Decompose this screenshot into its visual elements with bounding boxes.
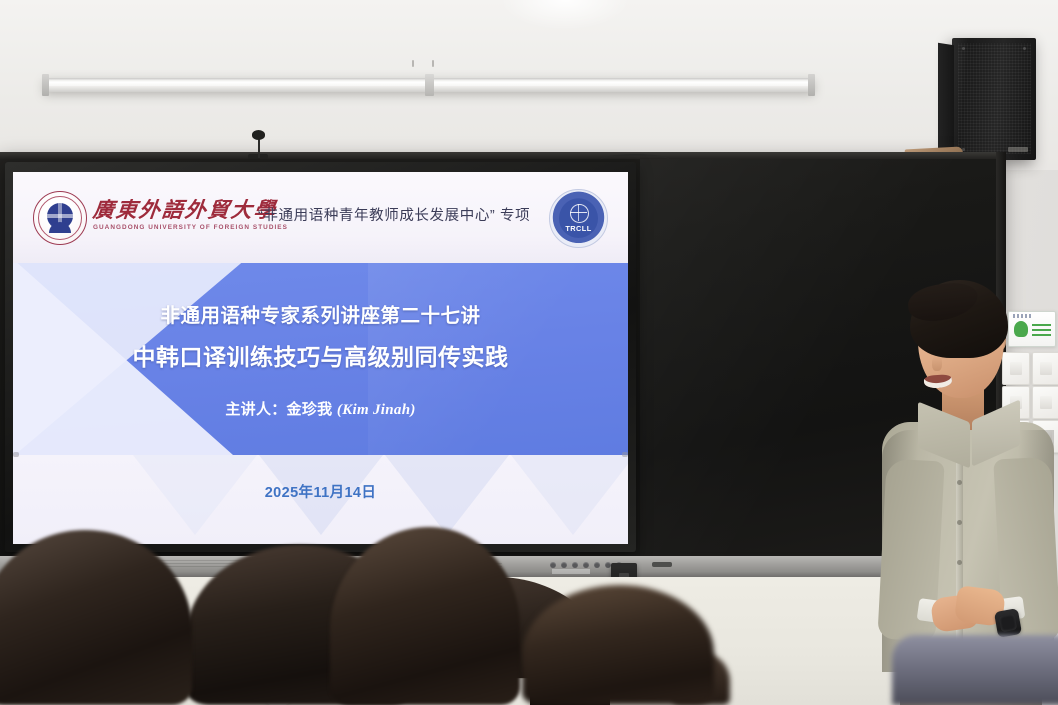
screen-edge-marker: [13, 452, 19, 457]
slide-title-band: 非通用语种专家系列讲座第二十七讲 中韩口译训练技巧与高级别同传实践 主讲人：金珍…: [13, 263, 628, 455]
ceiling-mount-dots: [406, 60, 452, 70]
classroom-photo-scene: 廣東外語外貿大學 GUANGDONG UNIVERSITY OF FOREIGN…: [0, 0, 1058, 705]
shirt-placket: [956, 438, 963, 668]
trcll-logo-text: TRCLL: [559, 224, 598, 233]
trcll-logo-icon: TRCLL: [549, 189, 608, 248]
speaker-side-panel: [938, 43, 954, 158]
microphone-icon: [252, 130, 265, 140]
shirt-button: [957, 520, 962, 525]
audience-member-shoulder: [892, 635, 1058, 705]
globe-icon: [570, 204, 589, 223]
control-button[interactable]: [572, 562, 578, 568]
control-button[interactable]: [550, 562, 556, 568]
shirt-button: [957, 480, 962, 485]
lecture-topic-line: 中韩口译训练技巧与高级别同传实践: [133, 338, 509, 372]
ceiling-light-glow: [500, 0, 630, 30]
control-label-strip: [552, 569, 590, 574]
control-button[interactable]: [583, 562, 589, 568]
presenter-nose: [932, 356, 942, 371]
speaker-name-en: (Kim Jinah): [337, 402, 416, 418]
speaker-grille: [958, 43, 1031, 154]
light-end-cap-left: [42, 74, 49, 96]
slide-footer-band: 2025年11月14日: [13, 455, 628, 544]
speaker-screw: [1023, 47, 1026, 50]
university-seal-icon: [33, 191, 87, 245]
control-button[interactable]: [561, 562, 567, 568]
light-center-joint: [425, 74, 434, 96]
control-button[interactable]: [594, 562, 600, 568]
wall-speaker-icon: [952, 38, 1036, 160]
wrist-watch-icon: [994, 608, 1022, 638]
blackboard-top-frame: [0, 152, 1004, 159]
university-name-cn: 廣東外語外貿大學: [91, 194, 278, 224]
university-name-en: GUANGDONG UNIVERSITY OF FOREIGN STUDIES: [93, 224, 288, 231]
speaker-brand-mark: [1008, 147, 1028, 152]
trcll-inner-disc: TRCLL: [559, 199, 598, 238]
speaker-line: 主讲人：金珍我 (Kim Jinah): [225, 398, 415, 419]
speaker-name-cn: 主讲人：金珍我: [225, 401, 332, 418]
microphone-stem: [258, 138, 260, 158]
speaker-screw: [962, 47, 965, 50]
slide-header-band: 廣東外語外貿大學 GUANGDONG UNIVERSITY OF FOREIGN…: [13, 172, 628, 263]
presentation-slide[interactable]: 廣東外語外貿大學 GUANGDONG UNIVERSITY OF FOREIGN…: [13, 172, 628, 544]
lecture-series-line: 非通用语种专家系列讲座第二十七讲: [160, 299, 480, 328]
program-label: “非通用语种青年教师成长发展中心” 专项: [258, 204, 530, 225]
ir-receiver-icon: [652, 562, 672, 567]
screen-edge-marker: [622, 452, 628, 457]
light-end-cap-right: [808, 74, 815, 96]
lecture-date: 2025年11月14日: [13, 481, 628, 502]
shirt-button: [957, 560, 962, 565]
slide-title-group: 非通用语种专家系列讲座第二十七讲 中韩口译训练技巧与高级别同传实践 主讲人：金珍…: [13, 263, 628, 455]
